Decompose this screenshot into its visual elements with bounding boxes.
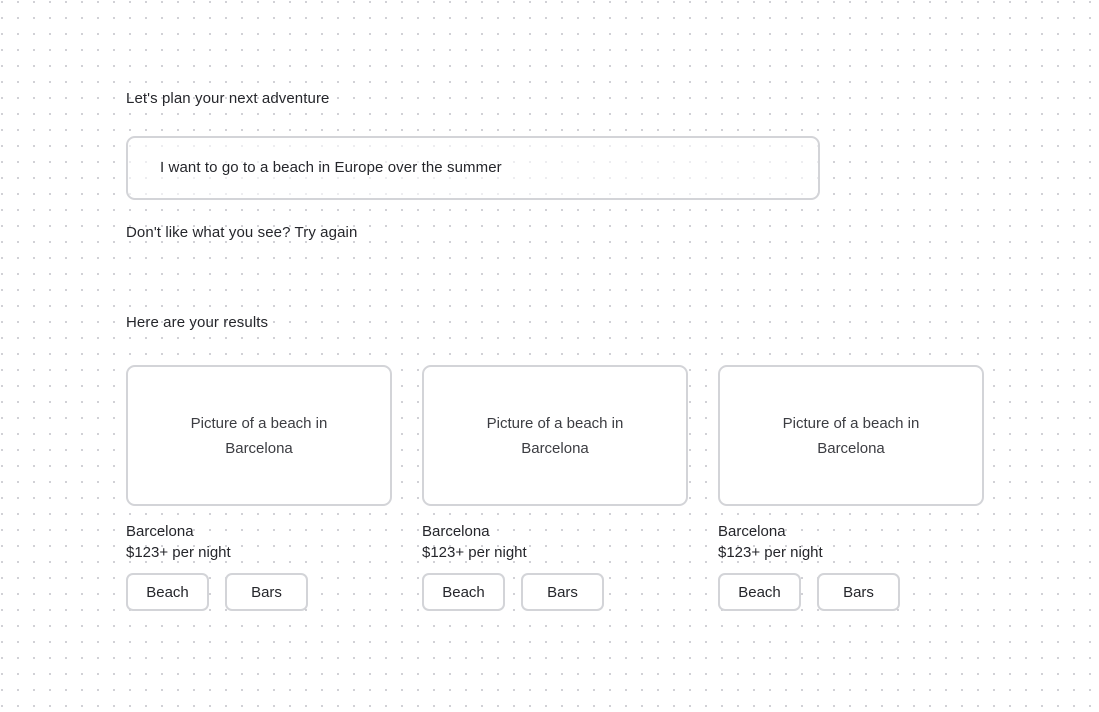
result-price: $123+ per night	[422, 542, 688, 563]
result-card[interactable]: Picture of a beach in Barcelona Barcelon…	[126, 365, 392, 611]
tag-button-beach[interactable]: Beach	[126, 573, 209, 611]
prompt-heading: Let's plan your next adventure	[126, 89, 330, 109]
trip-prompt-input-value[interactable]: I want to go to a beach in Europe over t…	[128, 158, 502, 178]
result-image-alt-text: Picture of a beach in Barcelona	[750, 411, 952, 461]
result-image-placeholder: Picture of a beach in Barcelona	[718, 365, 984, 506]
trip-prompt-input[interactable]: I want to go to a beach in Europe over t…	[126, 136, 820, 200]
result-title: Barcelona	[422, 521, 688, 542]
tag-button-beach[interactable]: Beach	[718, 573, 801, 611]
result-card[interactable]: Picture of a beach in Barcelona Barcelon…	[718, 365, 984, 611]
tag-button-beach[interactable]: Beach	[422, 573, 505, 611]
result-image-alt-text: Picture of a beach in Barcelona	[454, 411, 656, 461]
page-container: Let's plan your next adventure I want to…	[126, 0, 986, 712]
retry-prompt-text[interactable]: Don't like what you see? Try again	[126, 223, 357, 243]
result-tag-row: Beach Bars	[126, 573, 392, 611]
result-image-placeholder: Picture of a beach in Barcelona	[422, 365, 688, 506]
result-tag-row: Beach Bars	[422, 573, 688, 611]
result-title: Barcelona	[126, 521, 392, 542]
results-grid: Picture of a beach in Barcelona Barcelon…	[126, 365, 986, 611]
result-price: $123+ per night	[718, 542, 984, 563]
result-image-alt-text: Picture of a beach in Barcelona	[158, 411, 360, 461]
result-tag-row: Beach Bars	[718, 573, 984, 611]
result-image-placeholder: Picture of a beach in Barcelona	[126, 365, 392, 506]
tag-button-bars[interactable]: Bars	[521, 573, 604, 611]
tag-button-bars[interactable]: Bars	[225, 573, 308, 611]
results-heading: Here are your results	[126, 313, 268, 333]
tag-button-bars[interactable]: Bars	[817, 573, 900, 611]
result-price: $123+ per night	[126, 542, 392, 563]
result-card[interactable]: Picture of a beach in Barcelona Barcelon…	[422, 365, 688, 611]
result-title: Barcelona	[718, 521, 984, 542]
